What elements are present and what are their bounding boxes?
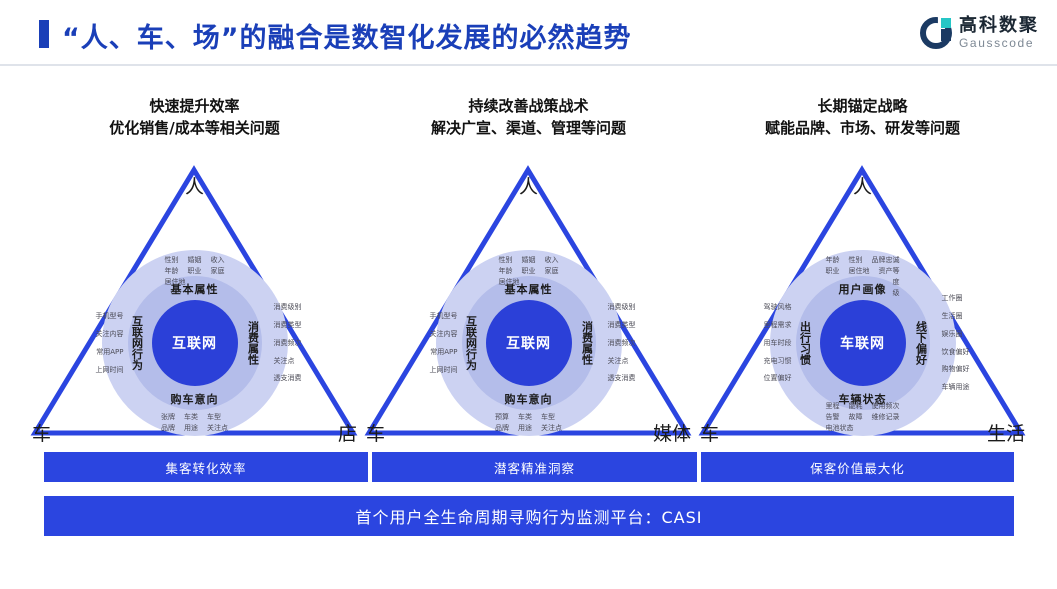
outcome-bar-conversion: 集客转化效率 (44, 452, 368, 482)
attribute-list-top: 性别婚姻收入 年龄职业家庭 居住地 (499, 255, 559, 288)
title-accent-bar (39, 20, 49, 48)
attr-item: 电池状态 (826, 423, 854, 434)
quadrant-label-right: 线下偏好 (913, 321, 929, 365)
attr-item: 能耗 (849, 401, 863, 412)
attr-item: 家庭 (545, 266, 559, 277)
core-label: 互联网 (172, 333, 217, 353)
attr-item: 收入 (211, 255, 225, 266)
quadrant-label-right: 消费属性 (245, 321, 261, 365)
attribute-list-left: 手机型号 关注内容 常用APP 上网时间 (430, 304, 458, 382)
corner-label-right: 生活 (987, 419, 1025, 446)
panel-caption: 持续改善战策战术 解决广宣、渠道、管理等问题 (362, 96, 695, 140)
triangle-diagram: 人 车 生活 车联网 用户画像 车辆状态 出行习惯 线下偏好 年龄性别品牌忠诚 … (696, 158, 1029, 448)
caption-line-2: 优化销售/成本等相关问题 (28, 118, 361, 140)
attr-item: 关注点 (274, 355, 302, 366)
attr-item: 年龄 (826, 255, 840, 266)
attr-item: 资产等 (879, 266, 900, 277)
panel-longterm: 长期锚定战略 赋能品牌、市场、研发等问题 人 车 生活 车联网 用户画像 车辆状… (696, 96, 1029, 456)
caption-line-1: 持续改善战策战术 (468, 97, 588, 115)
attribute-list-top: 年龄性别品牌忠诚 职业居住地资产等 度 级 (826, 255, 900, 298)
attribute-list-top: 性别婚姻收入 年龄职业家庭 居住地 (165, 255, 225, 288)
attr-item: 关注内容 (430, 329, 458, 340)
caption-line-1: 快速提升效率 (149, 97, 239, 115)
attr-item: 常用APP (430, 347, 458, 358)
brand-logo: 高科数聚 Gausscode (920, 17, 1039, 49)
panel-caption: 快速提升效率 优化销售/成本等相关问题 (28, 96, 361, 140)
attr-item: 级 (893, 288, 900, 299)
header-divider (0, 64, 1057, 66)
corner-label-left: 车 (32, 419, 51, 446)
logo-teal-square-icon (941, 18, 951, 28)
caption-line-1: 长期锚定战略 (817, 97, 907, 115)
attr-item: 购物偏好 (942, 364, 970, 375)
attr-item: 手机型号 (430, 311, 458, 322)
panel-caption: 长期锚定战略 赋能品牌、市场、研发等问题 (696, 96, 1029, 140)
attr-item: 品牌忠诚 (872, 255, 900, 266)
attribute-list-bottom: 预算车类车型 品牌用途关注点 (495, 412, 562, 434)
attr-item: 饮食偏好 (942, 347, 970, 358)
attribute-list-left: 手机型号 关注内容 常用APP 上网时间 (96, 304, 124, 382)
corner-label-left: 车 (700, 419, 719, 446)
attr-item: 常用APP (96, 347, 124, 358)
core-label: 车联网 (840, 333, 885, 353)
corner-label-top: 人 (185, 172, 204, 199)
ring-core: 互联网 (486, 300, 572, 386)
ring-core: 车联网 (820, 300, 906, 386)
attr-item: 车型 (541, 412, 555, 423)
outcome-bar-row: 集客转化效率 潜客精准洞察 保客价值最大化 (0, 452, 1057, 482)
attr-item: 上网时间 (96, 364, 124, 375)
corner-label-left: 车 (366, 419, 385, 446)
attr-item: 度 (893, 277, 900, 288)
attr-item: 家庭 (211, 266, 225, 277)
attribute-list-bottom: 里程能耗使用频次 告警故障维修记录 电池状态 (826, 401, 900, 434)
attr-item: 娱乐圈 (942, 329, 970, 340)
outcome-bar-insight: 潜客精准洞察 (372, 452, 697, 482)
attr-item: 手机型号 (96, 311, 124, 322)
logo-name-en: Gausscode (959, 37, 1039, 49)
attr-item: 职业 (826, 266, 840, 277)
attribute-list-right: 工作圈 生活圈 娱乐圈 饮食偏好 购物偏好 车辆用途 (942, 286, 970, 400)
attr-item: 年龄 (165, 266, 179, 277)
attr-item: 关注点 (541, 423, 562, 434)
quadrant-label-left: 互联网行为 (463, 316, 479, 371)
caption-line-2: 赋能品牌、市场、研发等问题 (696, 118, 1029, 140)
attr-item: 职业 (188, 266, 202, 277)
logo-wordmark: 高科数聚 Gausscode (959, 17, 1039, 49)
platform-banner: 首个用户全生命周期寻购行为监测平台：CASI (44, 496, 1014, 536)
attr-item: 上网时间 (430, 364, 458, 375)
quadrant-label-bottom: 购车意向 (505, 391, 553, 407)
attr-item: 车类 (518, 412, 532, 423)
attr-item: 消费频次 (274, 338, 302, 349)
attr-item: 品牌 (495, 423, 509, 434)
concentric-circles: 互联网 基本属性 购车意向 互联网行为 消费属性 性别婚姻收入 年龄职业家庭 居… (436, 250, 622, 436)
attr-item: 居住地 (849, 266, 870, 277)
attr-item: 位置偏好 (764, 373, 792, 384)
attr-item: 车辆用途 (942, 382, 970, 393)
attr-item: 性别 (499, 255, 513, 266)
attr-item: 张牌 (161, 412, 175, 423)
corner-label-top: 人 (853, 172, 872, 199)
attr-item: 生活圈 (942, 311, 970, 322)
gausscode-logo-icon (920, 17, 952, 49)
quadrant-label-left: 出行习惯 (797, 321, 813, 365)
attr-item: 婚姻 (188, 255, 202, 266)
concentric-circles: 车联网 用户画像 车辆状态 出行习惯 线下偏好 年龄性别品牌忠诚 职业居住地资产… (770, 250, 956, 436)
attr-item: 品牌 (161, 423, 175, 434)
attr-item: 维修记录 (872, 412, 900, 423)
attr-item: 里程 (826, 401, 840, 412)
attr-item: 用车时段 (764, 338, 792, 349)
attr-item: 预算 (495, 412, 509, 423)
attr-item: 用途 (518, 423, 532, 434)
attr-item: 使用频次 (872, 401, 900, 412)
attr-item: 驾驶风格 (764, 302, 792, 313)
triangle-diagram: 人 车 店 互联网 基本属性 购车意向 互联网行为 消费属性 性别婚姻收入 年龄… (28, 158, 361, 448)
attr-item: 消费频次 (608, 338, 636, 349)
page-title: “人、车、场”的融合是数智化发展的必然趋势 (62, 16, 632, 55)
attr-item: 故障 (849, 412, 863, 423)
page-header: “人、车、场”的融合是数智化发展的必然趋势 高科数聚 Gausscode (0, 0, 1057, 66)
corner-label-right: 店 (338, 419, 357, 446)
concentric-circles: 互联网 基本属性 购车意向 互联网行为 消费属性 性别婚姻收入 年龄职业家庭 居… (102, 250, 288, 436)
attribute-list-right: 消费级别 消费类型 消费频次 关注点 透支消费 (608, 295, 636, 391)
attr-item: 消费级别 (274, 302, 302, 313)
attr-item: 告警 (826, 412, 840, 423)
attr-item: 职业 (522, 266, 536, 277)
attr-item: 消费级别 (608, 302, 636, 313)
attr-item: 用途 (184, 423, 198, 434)
attr-item: 消费类型 (608, 320, 636, 331)
attr-item: 年龄 (499, 266, 513, 277)
attr-item: 居住地 (499, 277, 520, 288)
attr-item: 工作圈 (942, 293, 970, 304)
logo-name-cn: 高科数聚 (959, 17, 1039, 35)
panel-efficiency: 快速提升效率 优化销售/成本等相关问题 人 车 店 互联网 基本属性 购车意向 … (28, 96, 361, 456)
core-label: 互联网 (506, 333, 551, 353)
attr-item: 性别 (849, 255, 863, 266)
attr-item: 性别 (165, 255, 179, 266)
quadrant-label-bottom: 购车意向 (171, 391, 219, 407)
quadrant-label-left: 互联网行为 (129, 316, 145, 371)
attr-item: 充电习惯 (764, 355, 792, 366)
caption-line-2: 解决广宣、渠道、管理等问题 (362, 118, 695, 140)
attr-item: 关注内容 (96, 329, 124, 340)
panel-strategy: 持续改善战策战术 解决广宣、渠道、管理等问题 人 车 媒体 互联网 基本属性 购… (362, 96, 695, 456)
corner-label-right: 媒体 (653, 419, 691, 446)
corner-label-top: 人 (519, 172, 538, 199)
attr-item: 居住地 (165, 277, 186, 288)
ring-core: 互联网 (152, 300, 238, 386)
attr-item: 关注点 (608, 355, 636, 366)
logo-navy-square-icon (941, 29, 951, 41)
attribute-list-left: 驾驶风格 里程需求 用车时段 充电习惯 位置偏好 (764, 295, 792, 391)
attr-item: 里程需求 (764, 320, 792, 331)
attr-item: 消费类型 (274, 320, 302, 331)
triangle-diagram: 人 车 媒体 互联网 基本属性 购车意向 互联网行为 消费属性 性别婚姻收入 年… (362, 158, 695, 448)
attr-item: 透支消费 (608, 373, 636, 384)
quadrant-label-right: 消费属性 (579, 321, 595, 365)
attr-item: 透支消费 (274, 373, 302, 384)
attr-item: 车型 (207, 412, 221, 423)
attr-item: 关注点 (207, 423, 228, 434)
attribute-list-right: 消费级别 消费类型 消费频次 关注点 透支消费 (274, 295, 302, 391)
outcome-bar-value: 保客价值最大化 (701, 452, 1014, 482)
attr-item: 车类 (184, 412, 198, 423)
attribute-list-bottom: 张牌车类车型 品牌用途关注点 (161, 412, 228, 434)
attr-item: 婚姻 (522, 255, 536, 266)
attr-item: 收入 (545, 255, 559, 266)
